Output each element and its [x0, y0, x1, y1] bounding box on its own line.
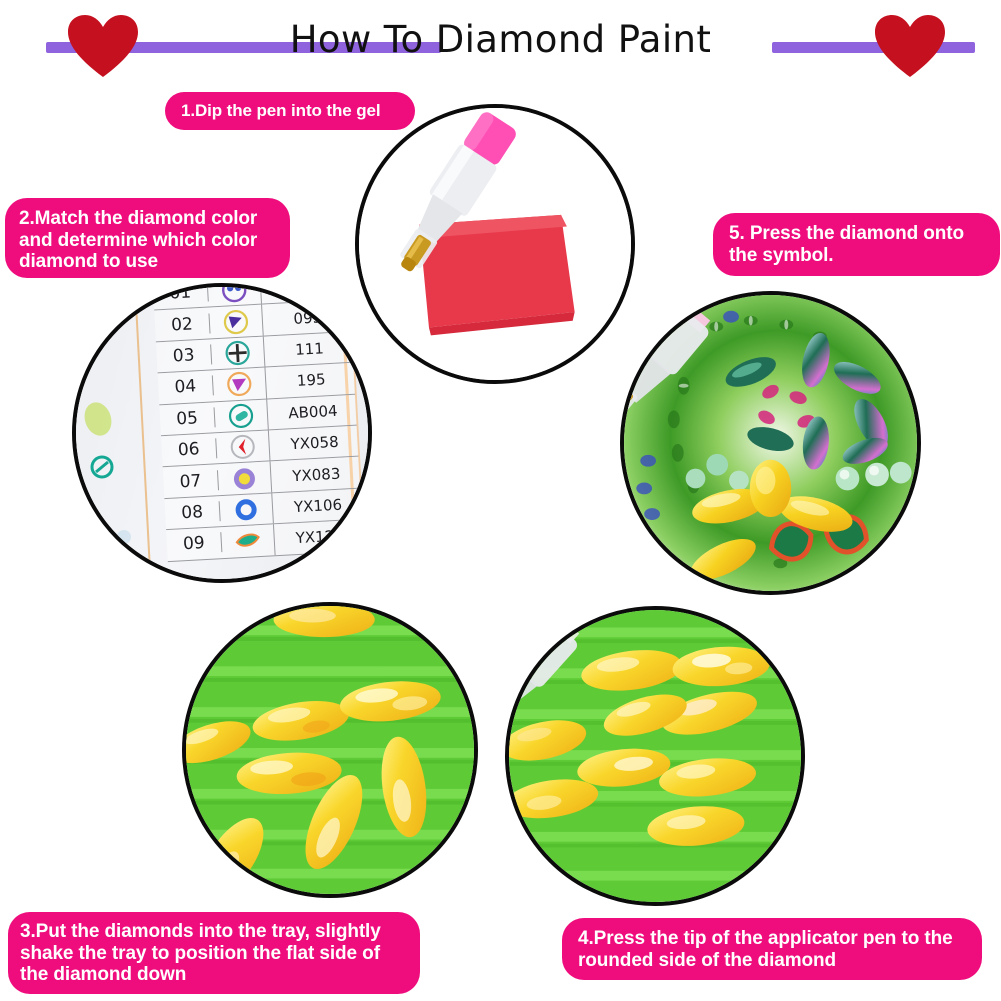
triangle-wedge-icon	[209, 305, 264, 338]
oval-capsule-icon	[214, 399, 269, 432]
row-number: 07	[163, 470, 219, 493]
row-code: 111	[264, 338, 353, 361]
row-number: 04	[158, 376, 214, 399]
photo-press-diamond-on-symbol	[620, 291, 921, 595]
row-code: YX106	[273, 494, 362, 517]
row-code: YX058	[269, 432, 358, 455]
row-number: 08	[165, 501, 221, 524]
photo-pen-dipping-gel	[355, 104, 635, 384]
color-legend-table: 01 028 02 093 03 111	[152, 283, 363, 562]
row-number: 03	[156, 344, 212, 367]
page-header: How To Diamond Paint	[0, 0, 1001, 86]
row-number: 06	[161, 438, 217, 461]
plus-cross-icon	[211, 336, 266, 369]
row-code: 195	[266, 369, 355, 392]
row-code: 028	[261, 283, 350, 298]
step-1-label: 1.Dip the pen into the gel	[165, 92, 415, 130]
triangle-wedge-icon	[213, 368, 268, 401]
row-code: AB004	[267, 400, 356, 423]
photo-diamonds-in-tray	[182, 602, 478, 898]
row-number: 05	[160, 407, 216, 430]
row-number: 09	[166, 532, 222, 555]
step-3-label: 3.Put the diamonds into the tray, slight…	[8, 912, 420, 994]
row-code: YX125	[274, 526, 363, 549]
row-code: YX083	[271, 463, 360, 486]
row-number: 02	[155, 313, 211, 336]
step-5-label: 5. Press the diamond onto the symbol.	[713, 213, 1000, 276]
row-number: 01	[153, 283, 209, 305]
chevron-left-icon	[216, 430, 271, 463]
double-dot-circle-icon	[207, 283, 262, 307]
step-2-label: 2.Match the diamond color and determine …	[5, 198, 290, 278]
photo-color-chart: 01 028 02 093 03 111	[72, 283, 372, 583]
photo-pen-picking-diamond	[505, 606, 805, 906]
page-title: How To Diamond Paint	[0, 18, 1001, 61]
open-ring-icon	[219, 493, 274, 526]
dot-in-ring-icon	[218, 462, 273, 495]
row-code: 093	[262, 306, 351, 329]
step-4-label: 4.Press the tip of the applicator pen to…	[562, 918, 982, 980]
leaf-icon	[221, 524, 276, 557]
